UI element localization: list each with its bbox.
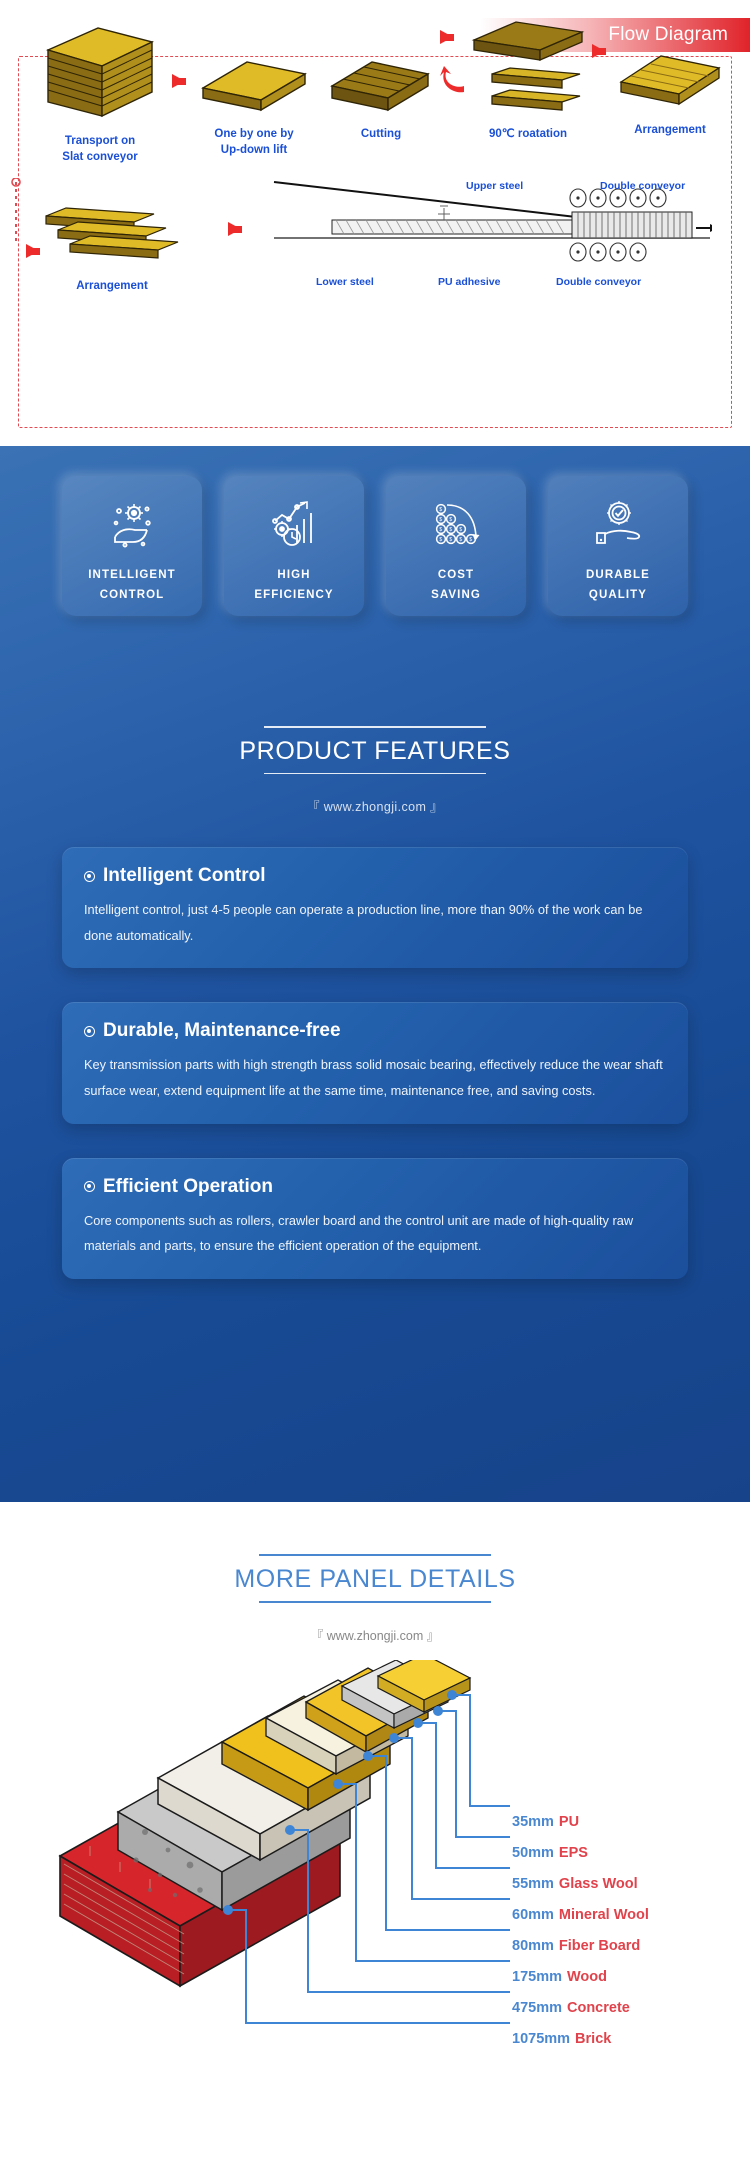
svg-text:$: $: [439, 527, 442, 533]
svg-text:$: $: [449, 527, 452, 533]
feature-card-efficient-operation[interactable]: Efficient Operation Core components such…: [62, 1158, 688, 1279]
feature-icon-caption: INTELLIGENT CONTROL: [88, 566, 176, 605]
single-slab-icon: [199, 56, 309, 118]
feature-icon-caption: HIGH EFFICIENCY: [254, 566, 333, 605]
panel-layer-row: 60mm Mineral Wool: [512, 1899, 649, 1930]
panel-layer-row: 475mm Concrete: [512, 1992, 649, 2023]
panel-layer-thickness: 50mm: [512, 1845, 554, 1861]
infographic-page: Flow Diagram: [0, 0, 750, 2168]
bullet-ring-icon: [84, 1026, 95, 1037]
panel-layer-row: 80mm Fiber Board: [512, 1930, 649, 1961]
flow-step-arrangement-bottom: Arrangement: [42, 198, 182, 295]
panel-layer-material: Concrete: [567, 2000, 630, 2016]
panel-layer-thickness: 55mm: [512, 1876, 554, 1892]
feature-card-heading-row: Intelligent Control: [84, 865, 666, 887]
flow-step-cutting: Cutting: [326, 52, 436, 143]
arranged-slabs-icon: [617, 48, 723, 114]
feature-card-body: Intelligent control, just 4-5 people can…: [84, 897, 666, 948]
feature-card-body: Key transmission parts with high strengt…: [84, 1052, 666, 1103]
feature-card-heading-row: Durable, Maintenance-free: [84, 1020, 666, 1042]
panel-layer-material: EPS: [559, 1845, 588, 1861]
panel-layer-material: Fiber Board: [559, 1938, 640, 1954]
feature-card-heading: Durable, Maintenance-free: [103, 1020, 341, 1042]
feature-card-heading: Intelligent Control: [103, 865, 266, 887]
flow-row-top: Transport on Slat conveyor One by one by…: [0, 8, 750, 158]
flow-step-label: One by one by Up-down lift: [196, 127, 312, 158]
flow-step-label: Arrangement: [614, 123, 726, 139]
arranged-strips-icon: [42, 198, 182, 270]
product-features-title: PRODUCT FEATURES: [0, 728, 750, 773]
feature-icon-strip: INTELLIGENT CONTROL: [0, 446, 750, 696]
machine-label-pu-adhesive: PU adhesive: [438, 276, 500, 288]
panel-layer-row: 50mm EPS: [512, 1837, 649, 1868]
panel-layer-row: 35mm PU: [512, 1806, 649, 1837]
flow-step-label: Cutting: [326, 127, 436, 143]
flow-arrow-icon-1: [172, 74, 185, 88]
flow-loop-connector-icon: [6, 178, 26, 248]
rotated-slabs-icon: [470, 18, 586, 118]
svg-text:$: $: [459, 527, 462, 533]
feature-icon-card-intelligent-control[interactable]: INTELLIGENT CONTROL: [62, 476, 202, 616]
flow-step-arrangement-top: Arrangement: [614, 48, 726, 139]
svg-text:$: $: [449, 537, 452, 543]
panel-layer-material: PU: [559, 1814, 579, 1830]
flow-arrow-icon-2: [440, 30, 453, 44]
panel-details-title: MORE PANEL DETAILS: [0, 1556, 750, 1601]
machine-label-lower-steel: Lower steel: [316, 276, 374, 288]
flow-arrow-icon-4: [26, 244, 39, 258]
svg-text:$: $: [439, 507, 442, 513]
product-features-title-block: PRODUCT FEATURES 『 www.zhongji.com 』: [0, 726, 750, 815]
feature-cards-list: Intelligent Control Intelligent control,…: [0, 847, 750, 1279]
title-rule-bottom: [264, 773, 486, 775]
svg-text:$: $: [469, 537, 472, 543]
panel-details-title-block: MORE PANEL DETAILS 『 www.zhongji.com 』: [0, 1502, 750, 1644]
panel-layer-figure: 35mm PU 50mm EPS 55mm Glass Wool 60mm Mi…: [0, 1660, 750, 2100]
panel-layer-row: 1075mm Brick: [512, 2023, 649, 2054]
panel-layer-material: Wood: [567, 1969, 607, 1985]
feature-icon-card-high-efficiency[interactable]: HIGH EFFICIENCY: [224, 476, 364, 616]
feature-card-durable-maintenance-free[interactable]: Durable, Maintenance-free Key transmissi…: [62, 1002, 688, 1123]
flow-step-label: Transport on Slat conveyor: [40, 134, 160, 165]
cut-slabs-icon: [328, 52, 434, 118]
machine-label-double-conveyor-top: Double conveyor: [600, 180, 685, 192]
panel-layer-material: Glass Wool: [559, 1876, 638, 1892]
svg-text:$: $: [449, 517, 452, 523]
machine-label-double-conveyor-bottom: Double conveyor: [556, 276, 641, 288]
panel-layer-thickness: 60mm: [512, 1907, 554, 1923]
layered-panel-illustration-icon: [50, 1660, 510, 2090]
flow-step-rotation: 90℃ roatation: [468, 18, 588, 143]
machine-label-upper-steel: Upper steel: [466, 180, 523, 192]
feature-card-body: Core components such as rollers, crawler…: [84, 1208, 666, 1259]
panel-rule-bottom: [259, 1601, 491, 1603]
flow-diagram-section: Flow Diagram: [0, 0, 750, 446]
product-features-section: INTELLIGENT CONTROL: [0, 446, 750, 1502]
feature-card-heading: Efficient Operation: [103, 1176, 273, 1198]
panel-layer-row: 55mm Glass Wool: [512, 1868, 649, 1899]
badge-hand-icon: [592, 498, 644, 550]
bullet-ring-icon: [84, 871, 95, 882]
svg-text:$: $: [439, 517, 442, 523]
flow-step-transport: Transport on Slat conveyor: [40, 20, 160, 165]
feature-icon-card-cost-saving[interactable]: $$$ $$$ $$$$ COST SAVING: [386, 476, 526, 616]
panel-layer-material: Mineral Wool: [559, 1907, 649, 1923]
feature-icon-caption: COST SAVING: [431, 566, 481, 605]
chart-gear-clock-icon: [268, 498, 320, 550]
panel-layer-label-list: 35mm PU 50mm EPS 55mm Glass Wool 60mm Mi…: [512, 1806, 649, 2054]
flow-row-bottom: Arrangement: [0, 170, 750, 350]
flow-arrow-icon-5: [228, 222, 241, 236]
flow-arrow-icon-3: [592, 44, 605, 58]
panel-layer-row: 175mm Wood: [512, 1961, 649, 1992]
feature-card-heading-row: Efficient Operation: [84, 1176, 666, 1198]
svg-text:$: $: [459, 537, 462, 543]
coins-arrow-icon: $$$ $$$ $$$$: [430, 498, 482, 550]
panel-layer-material: Brick: [575, 2031, 611, 2047]
flow-rotate-arrow-icon: [436, 62, 470, 96]
panel-layer-thickness: 175mm: [512, 1969, 562, 1985]
flow-step-label: 90℃ roatation: [468, 127, 588, 143]
svg-text:$: $: [439, 537, 442, 543]
website-url-panel: 『 www.zhongji.com 』: [0, 1625, 750, 1644]
flow-step-updown-lift: One by one by Up-down lift: [196, 56, 312, 158]
panel-layer-thickness: 35mm: [512, 1814, 554, 1830]
bullet-ring-icon: [84, 1181, 95, 1192]
website-url-features: 『 www.zhongji.com 』: [0, 796, 750, 815]
gears-hand-icon: [106, 498, 158, 550]
wood-stack-icon: [40, 20, 160, 125]
feature-icon-card-durable-quality[interactable]: DURABLE QUALITY: [548, 476, 688, 616]
feature-card-intelligent-control[interactable]: Intelligent Control Intelligent control,…: [62, 847, 688, 968]
panel-details-section: MORE PANEL DETAILS 『 www.zhongji.com 』: [0, 1502, 750, 2168]
panel-layer-thickness: 80mm: [512, 1938, 554, 1954]
panel-layer-thickness: 1075mm: [512, 2031, 570, 2047]
panel-layer-thickness: 475mm: [512, 2000, 562, 2016]
flow-step-label: Arrangement: [42, 279, 182, 295]
feature-icon-caption: DURABLE QUALITY: [586, 566, 650, 605]
